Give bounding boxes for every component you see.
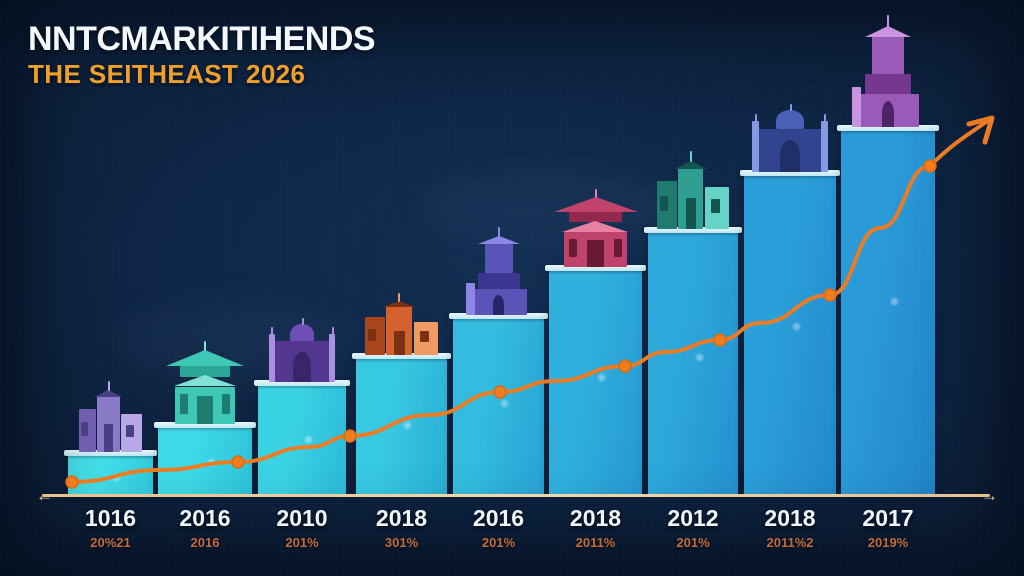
building-spire — [498, 227, 500, 237]
building-part — [81, 422, 88, 436]
building-spire — [108, 381, 110, 391]
bar-glint — [792, 322, 801, 331]
building-part — [269, 334, 275, 382]
axis-arrow-left: ← — [36, 487, 53, 504]
building-part — [872, 35, 903, 74]
bar-2018-5 — [549, 270, 642, 494]
building-part — [197, 396, 213, 424]
building-part — [711, 199, 720, 213]
bar-topper-illustration-6 — [656, 161, 730, 229]
building-roof — [675, 161, 707, 169]
building-spire — [690, 151, 692, 162]
bar-topper-illustration-7 — [749, 110, 831, 172]
building-part — [394, 331, 405, 355]
building-part — [329, 334, 335, 382]
bar-topper-illustration-3 — [364, 301, 440, 355]
building-roof — [94, 390, 122, 397]
building-part — [368, 329, 376, 341]
building-roof — [562, 221, 628, 232]
building-part — [686, 198, 696, 229]
x-tick-8: 20172019% — [827, 507, 949, 549]
building-part — [614, 239, 622, 257]
building-part — [478, 273, 520, 289]
bar-glint — [112, 473, 121, 482]
building-part — [493, 295, 504, 315]
bar-glint — [304, 435, 313, 444]
building-dome — [290, 324, 314, 341]
building-spire — [595, 189, 597, 199]
bar-glint — [695, 353, 704, 362]
bar-topper-illustration-8 — [849, 35, 927, 127]
building-roof — [166, 350, 244, 366]
building-part — [882, 101, 894, 127]
bar-topper-illustration-0 — [78, 390, 144, 452]
building-spire — [271, 327, 273, 335]
bar-glint — [890, 297, 899, 306]
bar-topper-illustration-2 — [266, 324, 338, 382]
building-part — [660, 196, 667, 211]
building-part — [420, 331, 429, 342]
building-part — [821, 121, 828, 172]
bar-2016-1 — [158, 427, 252, 494]
building-spire — [332, 327, 334, 335]
bar-2018-7 — [744, 175, 836, 494]
bar-2012-6 — [648, 232, 738, 494]
building-part — [466, 283, 474, 315]
building-part — [180, 394, 188, 413]
building-spire — [302, 318, 304, 325]
building-part — [104, 424, 113, 452]
building-part — [222, 394, 230, 413]
x-tick-sublabel: 2019% — [827, 536, 949, 549]
building-part — [780, 140, 800, 172]
building-dome — [776, 110, 804, 129]
bar-glint — [207, 458, 216, 467]
building-spire — [204, 341, 206, 351]
page-subtitle: THE SEITHEAST 2026 — [28, 60, 375, 89]
bar-glint — [597, 373, 606, 382]
building-roof — [554, 197, 638, 212]
building-roof — [174, 375, 236, 386]
building-part — [587, 240, 604, 267]
bar-topper-illustration-4 — [464, 243, 534, 315]
bar-2016-4 — [453, 318, 544, 494]
bar-2018-3 — [356, 358, 447, 494]
x-axis-line — [42, 494, 990, 497]
building-part — [852, 87, 861, 127]
building-part — [752, 121, 759, 172]
building-part — [293, 352, 310, 382]
bar-2017-8 — [841, 130, 935, 494]
chart-canvas: NNTCMARKITIHENDS THE SEITHEAST 2026 ← → … — [0, 0, 1024, 576]
building-spire — [824, 114, 826, 123]
building-part — [865, 74, 912, 94]
building-part — [126, 425, 134, 437]
bar-glint — [403, 421, 412, 430]
axis-arrow-right: → — [981, 487, 998, 504]
bar-glint — [500, 399, 509, 408]
building-spire — [755, 114, 757, 123]
building-spire — [887, 15, 889, 28]
bar-2010-2 — [258, 385, 346, 494]
building-part — [569, 239, 577, 257]
x-tick-year: 2017 — [827, 507, 949, 530]
bar-topper-illustration-5 — [554, 197, 638, 267]
bar-1016-0 — [68, 455, 153, 494]
building-part — [485, 243, 513, 273]
page-title: NNTCMARKITIHENDS — [28, 22, 375, 57]
title-block: NNTCMARKITIHENDS THE SEITHEAST 2026 — [28, 22, 375, 88]
building-spire — [790, 104, 792, 111]
bar-topper-illustration-1 — [166, 350, 244, 424]
